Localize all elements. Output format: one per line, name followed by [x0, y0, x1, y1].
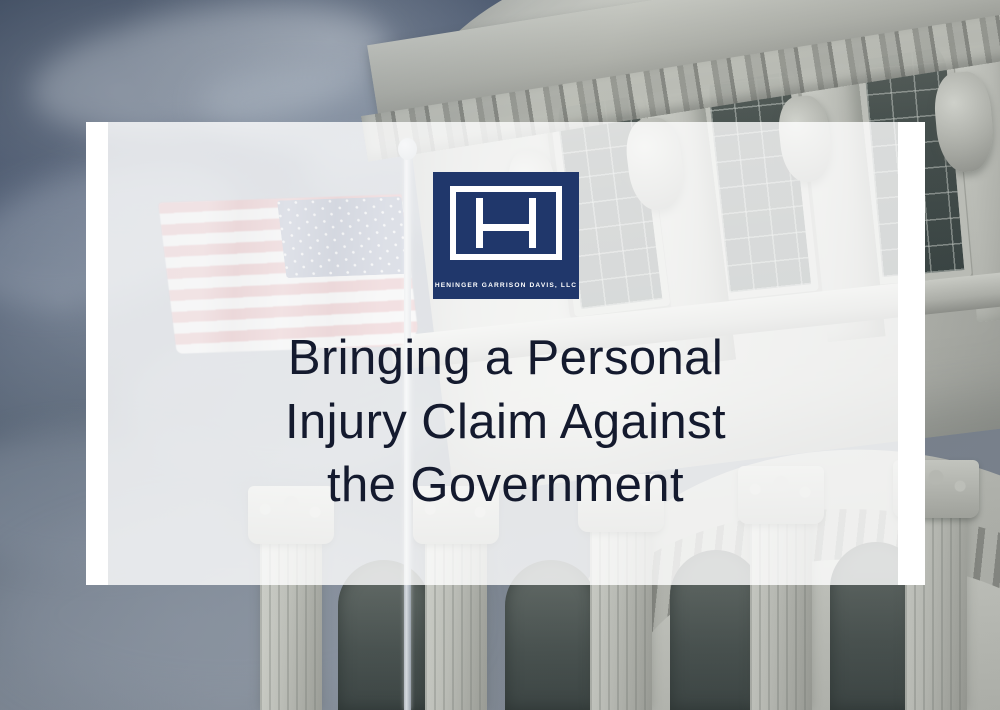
page-title: Bringing a Personal Injury Claim Against…: [146, 327, 865, 518]
page-title-line-3: the Government: [146, 454, 865, 518]
white-content-panel: HENINGER GARRISON DAVIS, LLC Bringing a …: [86, 122, 925, 585]
page-title-line-1: Bringing a Personal: [146, 327, 865, 391]
panel-left-edge: [86, 122, 108, 585]
monogram-left-stem: [476, 198, 483, 248]
page-title-line-2: Injury Claim Against: [146, 391, 865, 455]
panel-right-edge: [898, 122, 925, 585]
monogram-right-stem: [529, 198, 536, 248]
heninger-garrison-davis-logo: HENINGER GARRISON DAVIS, LLC: [433, 172, 579, 299]
monogram-crossbar: [483, 224, 529, 231]
logo-firm-name: HENINGER GARRISON DAVIS, LLC: [433, 282, 579, 289]
logo-white-frame: [450, 186, 562, 260]
logo-h-monogram: [462, 198, 550, 248]
